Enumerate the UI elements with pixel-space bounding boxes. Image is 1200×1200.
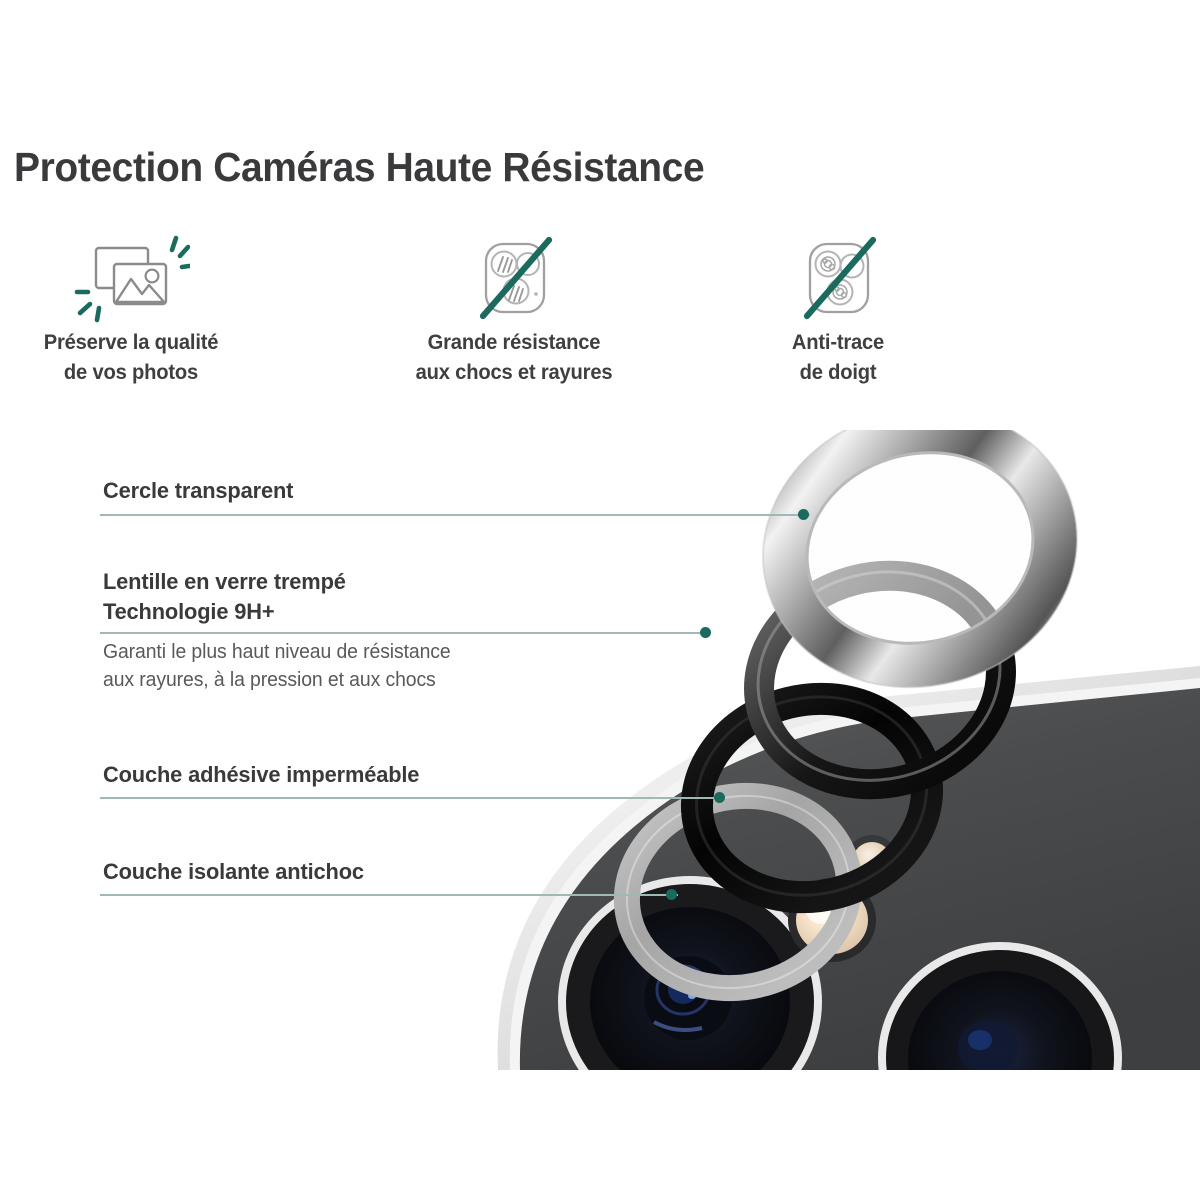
callout-couche-adhesive: Couche adhésive imperméable (103, 760, 429, 790)
leader-dot (700, 627, 711, 638)
infographic-canvas: Protection Caméras Haute Résistance (0, 0, 1200, 1200)
callout-title: Couche isolante antichoc (103, 857, 364, 887)
feature-item-shock-scratch: Grande résistance aux chocs et rayures (378, 232, 650, 388)
callout-title: Cercle transparent (103, 476, 293, 506)
photo-quality-icon (0, 232, 262, 328)
feature-label: Grande résistance aux chocs et rayures (383, 328, 644, 388)
leader-line (100, 797, 725, 799)
leader-dot (798, 509, 809, 520)
exploded-lens-protector-artwork (440, 430, 1200, 1070)
callout-title-line2: Technologie 9H+ (103, 597, 451, 627)
callout-title: Couche adhésive imperméable (103, 760, 419, 790)
page-title: Protection Caméras Haute Résistance (14, 144, 704, 191)
ring-transparent-circle (733, 430, 1106, 720)
feature-item-photo-quality: Préserve la qualité de vos photos (0, 232, 262, 388)
anti-fingerprint-icon (744, 232, 932, 328)
callout-description: Garanti le plus haut niveau de résistanc… (103, 638, 451, 695)
leader-line (100, 514, 810, 516)
leader-dot (714, 792, 725, 803)
callout-lentille-verre-trempe: Lentille en verre trempé Technologie 9H+… (103, 567, 461, 695)
callout-couche-isolante: Couche isolante antichoc (103, 857, 372, 887)
scratch-shock-resistance-icon (378, 232, 650, 328)
leader-line (100, 894, 678, 896)
callout-title: Lentille en verre trempé (103, 567, 451, 597)
leader-dot (666, 889, 677, 900)
feature-item-anti-fingerprint: Anti-trace de doigt (744, 232, 932, 388)
feature-label: Anti-trace de doigt (748, 328, 928, 388)
feature-label: Préserve la qualité de vos photos (5, 328, 257, 388)
callout-cercle-transparent: Cercle transparent (103, 476, 299, 506)
feature-highlights-row: Préserve la qualité de vos photos (0, 232, 1010, 402)
